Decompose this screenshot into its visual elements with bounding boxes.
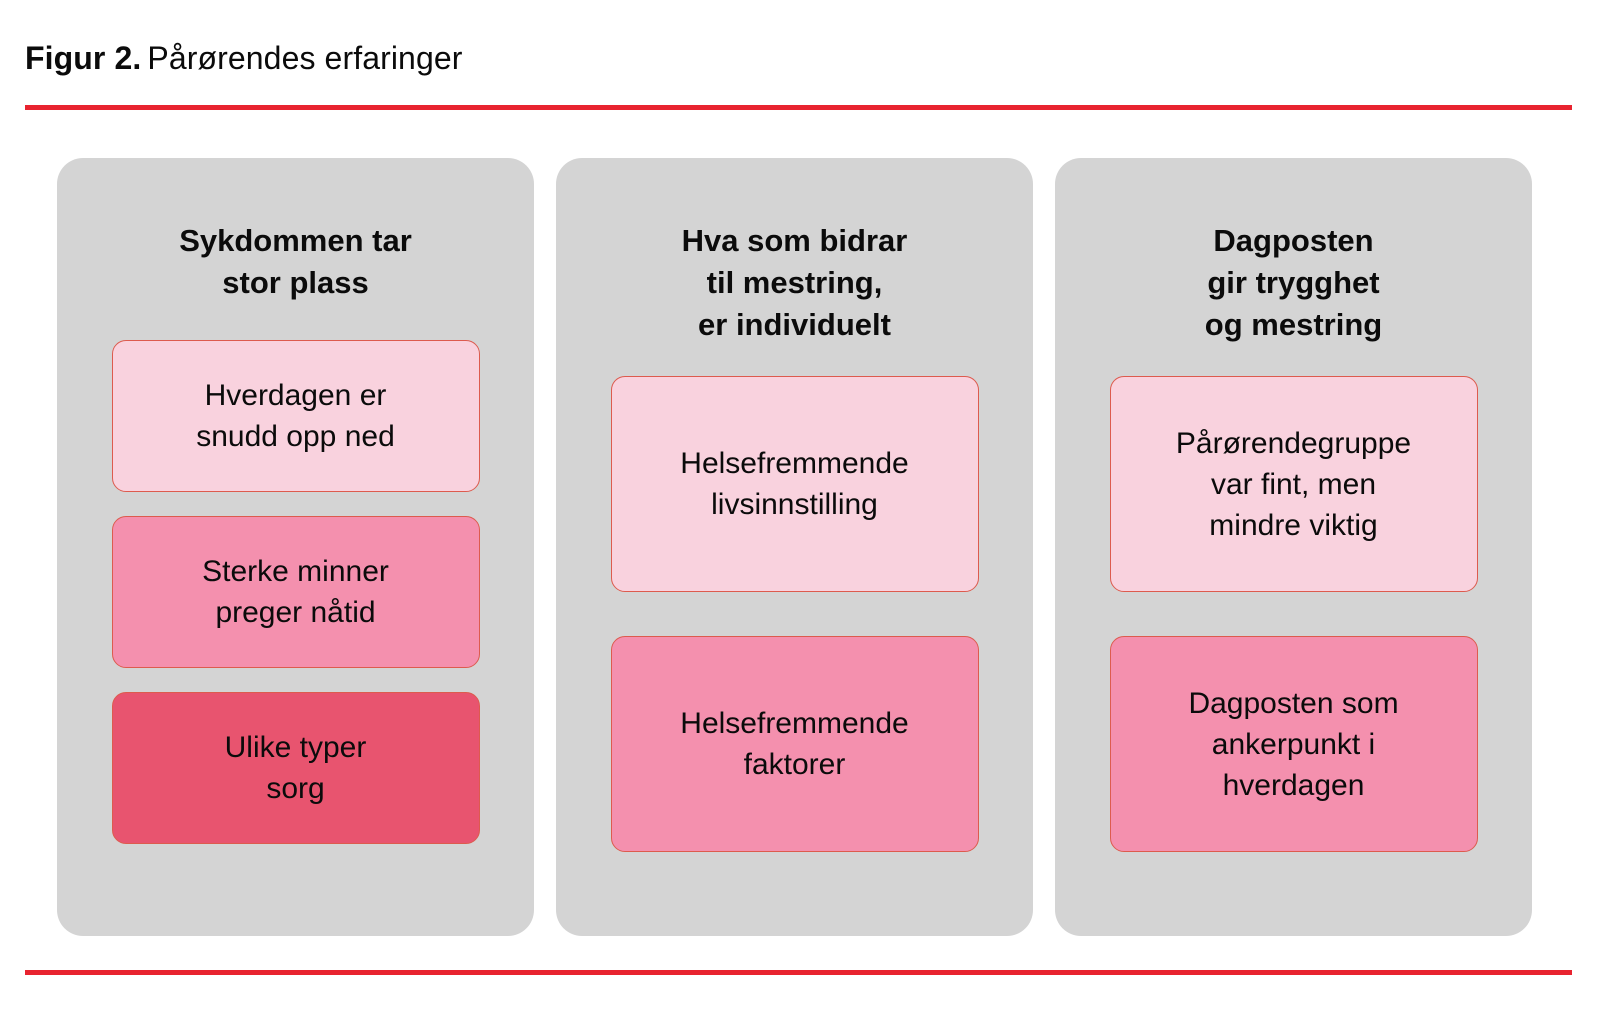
- column-group: Sykdommen tar stor plass Hverdagen er sn…: [57, 158, 1532, 936]
- figure-container: Figur 2.Pårørendes erfaringer Sykdommen …: [0, 0, 1600, 1011]
- figure-title: Figur 2.Pårørendes erfaringer: [25, 38, 463, 78]
- card-stack-2: Helsefremmende livsinnstilling Helsefrem…: [572, 376, 1017, 852]
- figure-title-text: Pårørendes erfaringer: [147, 40, 462, 76]
- card-1-3[interactable]: Ulike typer sorg: [112, 692, 480, 844]
- card-3-1[interactable]: Pårørendegruppe var fint, men mindre vik…: [1110, 376, 1478, 592]
- divider-rule-top: [25, 105, 1572, 110]
- divider-rule-bottom: [25, 970, 1572, 975]
- card-1-1[interactable]: Hverdagen er snudd opp ned: [112, 340, 480, 492]
- card-stack-1: Hverdagen er snudd opp ned Sterke minner…: [73, 340, 518, 844]
- card-stack-3: Pårørendegruppe var fint, men mindre vik…: [1071, 376, 1516, 852]
- column-heading-3: Dagposten gir trygghet og mestring: [1205, 158, 1382, 346]
- card-2-2[interactable]: Helsefremmende faktorer: [611, 636, 979, 852]
- card-1-2[interactable]: Sterke minner preger nåtid: [112, 516, 480, 668]
- column-panel-3: Dagposten gir trygghet og mestring Pårør…: [1055, 158, 1532, 936]
- card-3-2[interactable]: Dagposten som ankerpunkt i hverdagen: [1110, 636, 1478, 852]
- column-heading-2: Hva som bidrar til mestring, er individu…: [682, 158, 908, 346]
- figure-label: Figur 2.: [25, 40, 141, 76]
- column-panel-2: Hva som bidrar til mestring, er individu…: [556, 158, 1033, 936]
- column-panel-1: Sykdommen tar stor plass Hverdagen er sn…: [57, 158, 534, 936]
- column-heading-1: Sykdommen tar stor plass: [179, 158, 412, 304]
- card-2-1[interactable]: Helsefremmende livsinnstilling: [611, 376, 979, 592]
